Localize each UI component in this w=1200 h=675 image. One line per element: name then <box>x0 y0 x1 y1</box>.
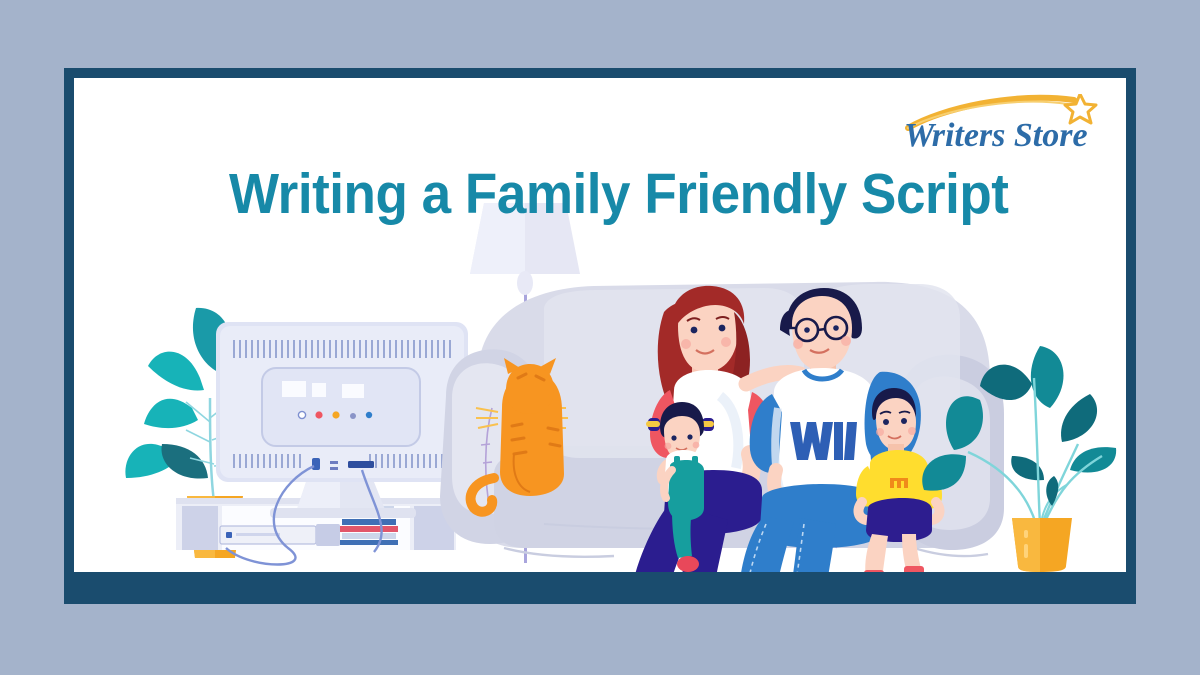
page-title: Writing a Family Friendly Script <box>229 166 1001 223</box>
shirt-graphic <box>790 422 857 460</box>
card-inner-canvas: Writers Store Writing a Family Friendly … <box>74 78 1126 572</box>
logo-wordmark: Writers Store <box>904 117 1088 154</box>
writers-store-logo[interactable]: Writers Store <box>902 94 1112 156</box>
dvd-player <box>220 524 340 546</box>
framed-image-card: Writers Store Writing a Family Friendly … <box>64 68 1136 604</box>
page-root: Writers Store Writing a Family Friendly … <box>0 0 1200 675</box>
